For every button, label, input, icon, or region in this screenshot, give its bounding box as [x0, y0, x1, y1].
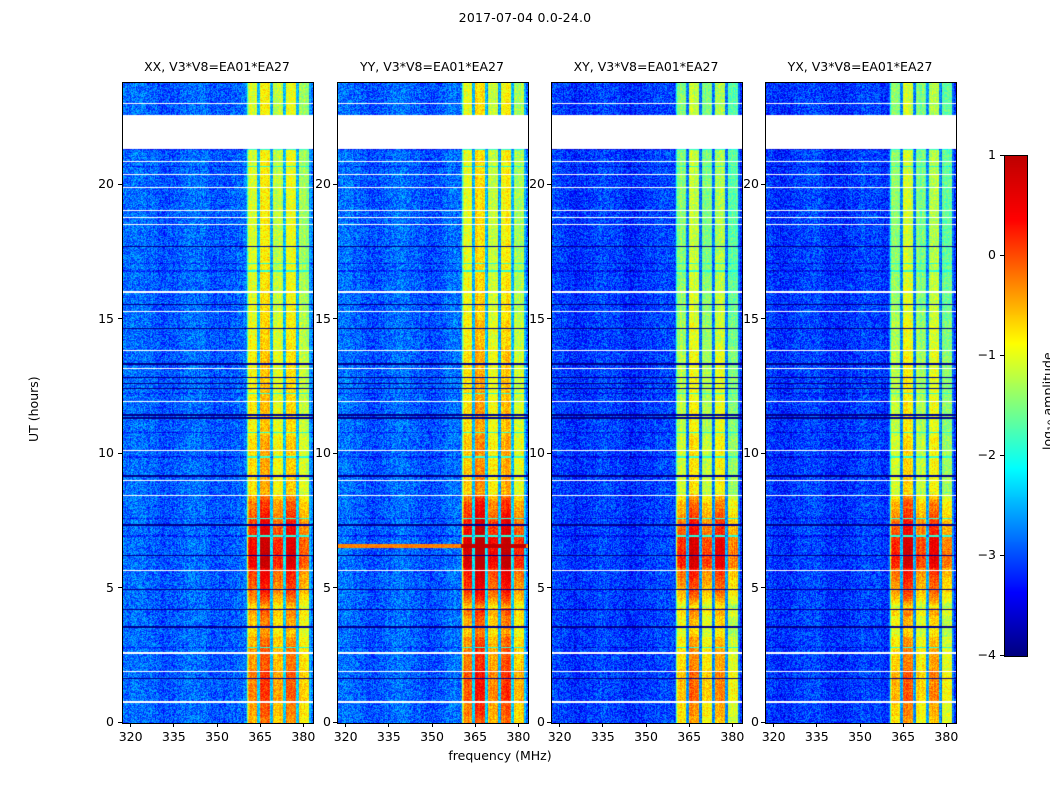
y-tick-label-15-p3: 15 [735, 311, 759, 326]
y-tickmark [761, 318, 765, 319]
x-tick-label-380: 380 [921, 729, 971, 744]
y-tickmark [547, 184, 551, 185]
figure-canvas: 2017-07-04 0.0-24.0 XX, V3*V8=EA01*EA27 … [0, 0, 1050, 800]
y-tickmark [761, 184, 765, 185]
y-tickmark [118, 587, 122, 588]
y-tick-label-10-p3: 10 [735, 445, 759, 460]
y-tick-label-5-p2: 5 [521, 580, 545, 595]
y-tick-label-0-p2: 0 [521, 714, 545, 729]
colorbar-label-post: amplitude [1040, 352, 1050, 419]
y-tickmark [547, 722, 551, 723]
x-tickmark [345, 723, 346, 727]
x-tickmark [559, 723, 560, 727]
x-tickmark [860, 723, 861, 727]
y-tick-label-10-p2: 10 [521, 445, 545, 460]
y-tickmark [761, 722, 765, 723]
y-tick-label-5-p3: 5 [735, 580, 759, 595]
x-tickmark [773, 723, 774, 727]
colorbar[interactable] [1004, 155, 1028, 657]
y-tickmark [761, 587, 765, 588]
x-tickmark [130, 723, 131, 727]
y-tick-label-5-p1: 5 [307, 580, 331, 595]
y-tickmark [333, 453, 337, 454]
y-axis-label: UT (hours) [26, 376, 41, 442]
y-tick-label-20-p1: 20 [307, 176, 331, 191]
colorbar-tick-label--1: −1 [958, 347, 996, 362]
y-tickmark [547, 318, 551, 319]
y-tickmark [118, 184, 122, 185]
x-tickmark [388, 723, 389, 727]
y-tickmark [333, 318, 337, 319]
heatmap-panel-xy[interactable] [551, 82, 743, 724]
x-tickmark [816, 723, 817, 727]
y-tick-label-0-p3: 0 [735, 714, 759, 729]
y-tick-label-0: 0 [76, 714, 114, 729]
colorbar-tick-label-1: 1 [958, 147, 996, 162]
colorbar-tick-label--2: −2 [958, 447, 996, 462]
y-tickmark [118, 453, 122, 454]
y-tick-label-15-p2: 15 [521, 311, 545, 326]
y-tick-label-5: 5 [76, 580, 114, 595]
x-tickmark [303, 723, 304, 727]
x-tickmark [432, 723, 433, 727]
y-tickmark [333, 587, 337, 588]
heatmap-panel-yy[interactable] [337, 82, 529, 724]
heatmap-panel-yx[interactable] [765, 82, 957, 724]
colorbar-tick-label--4: −4 [958, 647, 996, 662]
colorbar-label: log10 amplitude [1040, 352, 1050, 450]
y-tick-label-10: 10 [76, 445, 114, 460]
figure-suptitle: 2017-07-04 0.0-24.0 [0, 10, 1050, 25]
y-tick-label-10-p1: 10 [307, 445, 331, 460]
x-tickmark [475, 723, 476, 727]
colorbar-tick-label-0: 0 [958, 247, 996, 262]
x-tickmark [602, 723, 603, 727]
y-tickmark [333, 184, 337, 185]
x-tickmark [732, 723, 733, 727]
y-tick-label-15-p1: 15 [307, 311, 331, 326]
y-tickmark [761, 453, 765, 454]
x-tickmark [946, 723, 947, 727]
y-tick-label-0-p1: 0 [307, 714, 331, 729]
x-tickmark [217, 723, 218, 727]
x-tickmark [903, 723, 904, 727]
y-tickmark [118, 722, 122, 723]
x-tickmark [646, 723, 647, 727]
heatmap-panel-xx[interactable] [122, 82, 314, 724]
y-tick-label-15: 15 [76, 311, 114, 326]
y-tickmark [547, 587, 551, 588]
x-tickmark [689, 723, 690, 727]
y-tickmark [547, 453, 551, 454]
y-tick-label-20: 20 [76, 176, 114, 191]
y-tickmark [118, 318, 122, 319]
panel-title-yx: YX, V3*V8=EA01*EA27 [725, 59, 995, 74]
colorbar-label-pre: log [1040, 431, 1050, 450]
x-tickmark [518, 723, 519, 727]
x-axis-label: frequency (MHz) [0, 748, 1000, 763]
y-tick-label-20-p2: 20 [521, 176, 545, 191]
x-tickmark [173, 723, 174, 727]
x-tickmark [260, 723, 261, 727]
y-tick-label-20-p3: 20 [735, 176, 759, 191]
y-tickmark [333, 722, 337, 723]
colorbar-tick-label--3: −3 [958, 547, 996, 562]
